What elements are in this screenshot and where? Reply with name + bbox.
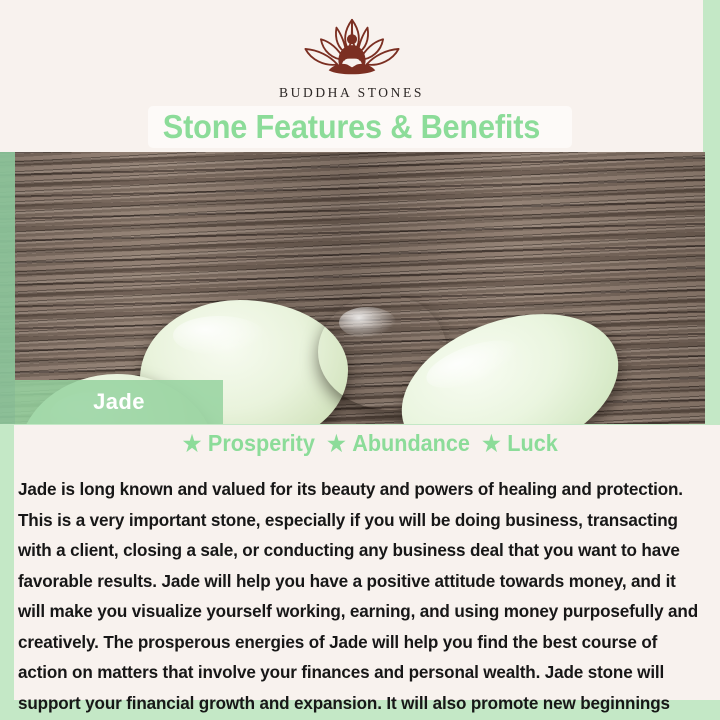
star-icon: ★ [327,431,346,456]
lotus-meditation-icon [293,14,411,82]
star-icon: ★ [183,431,202,456]
brand-name: BUDDHA STONES [0,85,703,101]
brand-block: BUDDHA STONES [0,14,703,101]
keyword-prosperity: Prosperity [208,430,315,456]
page-title: Stone Features & Benefits [25,108,679,146]
keyword-row: ★Prosperity★Abundance★Luck [35,430,699,457]
stone-name-text: Jade [93,389,145,415]
infographic-page: BUDDHA STONES Stone Features & Benefits … [0,0,720,720]
star-icon: ★ [482,431,501,456]
description-paragraph: Jade is long known and valued for its be… [18,475,704,720]
stone-name-label: Jade [15,380,223,424]
keyword-abundance: Abundance [352,430,470,456]
keyword-luck: Luck [507,430,557,456]
photo-left-accent-bar [0,152,15,424]
